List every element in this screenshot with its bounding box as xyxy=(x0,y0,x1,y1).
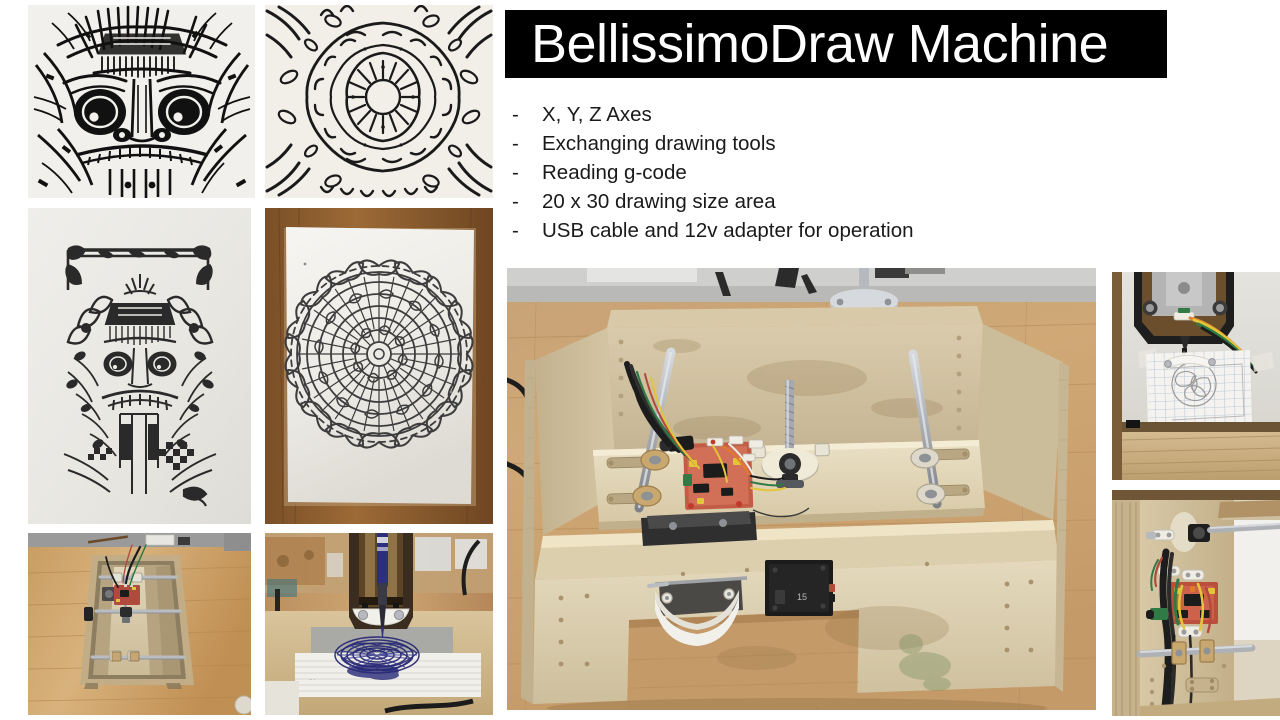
photo-gantry-wiring xyxy=(1112,490,1280,716)
gantry-wiring-art xyxy=(1112,490,1280,716)
presentation-slide: BellissimoDraw Machine - X, Y, Z Axes - … xyxy=(0,0,1280,720)
list-item-label: 20 x 30 drawing size area xyxy=(542,187,776,216)
photo-toolhead xyxy=(1112,272,1280,480)
svg-text:15: 15 xyxy=(797,592,807,602)
list-item: - Exchanging drawing tools xyxy=(512,129,1082,158)
pen-drawing-art: ·· · xyxy=(265,533,493,715)
list-item: - Reading g-code xyxy=(512,158,1082,187)
photo-pen-drawing: ·· · xyxy=(265,533,493,715)
bullet-dash-icon: - xyxy=(512,158,542,187)
photo-mask-print xyxy=(28,208,251,524)
photo-mask-closeup xyxy=(28,5,255,198)
list-item-label: USB cable and 12v adapter for operation xyxy=(542,216,914,245)
list-item-label: X, Y, Z Axes xyxy=(542,100,652,129)
bullet-dash-icon: - xyxy=(512,129,542,158)
machine-main-art: 15 xyxy=(507,268,1096,710)
photo-frame-topdown xyxy=(28,533,251,715)
mask-closeup-art xyxy=(28,5,255,198)
photo-machine-main: 15 xyxy=(507,268,1096,710)
list-item-label: Reading g-code xyxy=(542,158,687,187)
list-item: - USB cable and 12v adapter for operatio… xyxy=(512,216,1082,245)
list-item: - 20 x 30 drawing size area xyxy=(512,187,1082,216)
bullet-dash-icon: - xyxy=(512,216,542,245)
photo-mandala-print xyxy=(265,208,493,524)
toolhead-art xyxy=(1112,272,1280,480)
list-item: - X, Y, Z Axes xyxy=(512,100,1082,129)
mandala-closeup-art xyxy=(265,5,493,198)
svg-text:·· ·: ·· · xyxy=(309,677,316,683)
title-banner: BellissimoDraw Machine xyxy=(505,10,1167,78)
bullet-dash-icon: - xyxy=(512,100,542,129)
feature-list: - X, Y, Z Axes - Exchanging drawing tool… xyxy=(512,100,1082,245)
frame-topdown-art xyxy=(28,533,251,715)
list-item-label: Exchanging drawing tools xyxy=(542,129,776,158)
page-title: BellissimoDraw Machine xyxy=(505,17,1108,71)
bullet-dash-icon: - xyxy=(512,187,542,216)
mask-print-art xyxy=(28,208,251,524)
mandala-print-art xyxy=(265,208,493,524)
photo-mandala-closeup xyxy=(265,5,493,198)
